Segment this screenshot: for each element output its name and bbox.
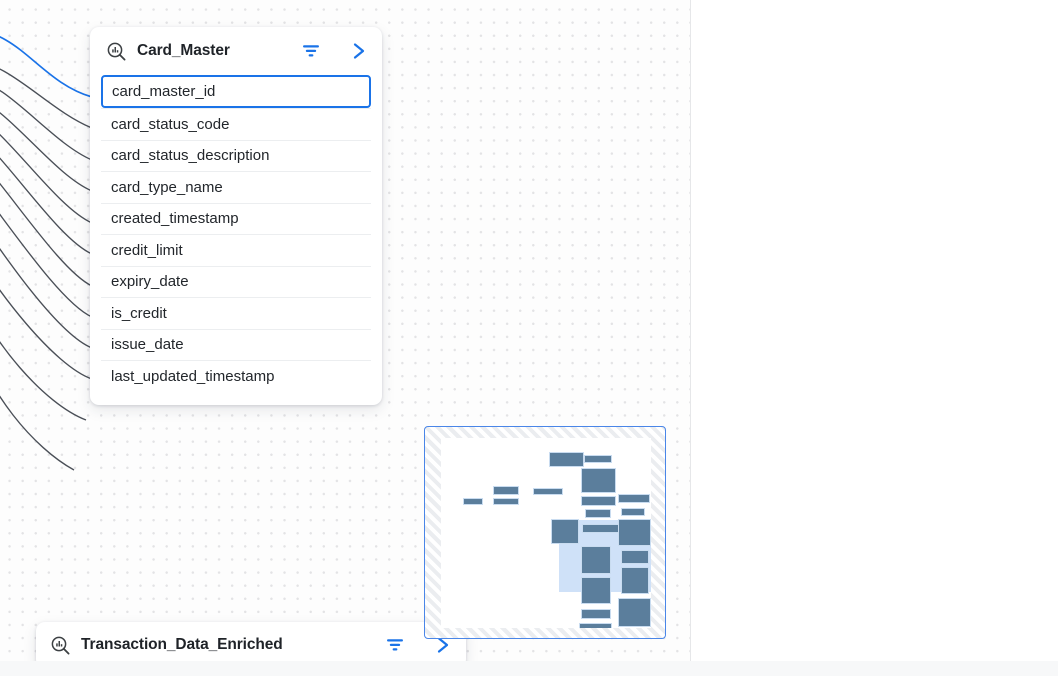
node-title: Card_Master [137, 42, 230, 60]
edge [0, 176, 92, 317]
edge [0, 330, 74, 470]
filter-icon[interactable] [384, 635, 406, 655]
edge [0, 96, 92, 191]
minimap-node [581, 577, 611, 604]
minimap-node [581, 496, 616, 506]
minimap-node [493, 486, 519, 495]
edge [0, 150, 92, 286]
data-profile-search-icon[interactable] [50, 635, 71, 656]
minimap-content [441, 438, 651, 628]
minimap[interactable] [424, 426, 666, 639]
footer-strip [0, 661, 1058, 676]
lineage-explorer-app: Card_Master card_master_id c [0, 0, 1058, 676]
field-row[interactable]: issue_date [101, 329, 371, 361]
minimap-node [618, 519, 651, 546]
field-row[interactable]: is_credit [101, 297, 371, 329]
graph-canvas[interactable]: Card_Master card_master_id c [0, 0, 690, 661]
table-node-card-master[interactable]: Card_Master card_master_id c [90, 27, 382, 405]
field-row[interactable]: created_timestamp [101, 203, 371, 235]
minimap-node [581, 468, 616, 493]
edge [0, 244, 92, 379]
data-profile-search-icon[interactable] [106, 41, 127, 62]
node-header: Card_Master [90, 27, 382, 75]
edge [0, 130, 92, 254]
field-row[interactable]: card_status_code [101, 108, 371, 140]
field-row[interactable]: expiry_date [101, 266, 371, 298]
minimap-node [585, 509, 611, 518]
minimap-node [581, 546, 611, 574]
node-header: Transaction_Data_Enriched [36, 622, 466, 661]
edge [0, 206, 92, 348]
minimap-node [621, 508, 645, 516]
edge [0, 112, 92, 223]
minimap-node [618, 494, 650, 503]
field-row[interactable]: credit_limit [101, 234, 371, 266]
edge [0, 78, 92, 160]
field-row[interactable]: last_updated_timestamp [101, 360, 371, 392]
field-row[interactable]: card_status_description [101, 140, 371, 172]
edge [0, 288, 86, 420]
edge [0, 60, 92, 128]
minimap-node [533, 488, 563, 495]
table-node-transaction-data-enriched[interactable]: Transaction_Data_Enriched [36, 622, 466, 661]
minimap-node [621, 550, 649, 564]
edge-highlighted [0, 30, 92, 97]
minimap-node [621, 567, 649, 594]
filter-icon[interactable] [300, 41, 322, 61]
minimap-node [551, 519, 579, 544]
minimap-node [581, 609, 611, 619]
minimap-node [463, 498, 483, 505]
minimap-node [579, 623, 612, 628]
minimap-node [549, 452, 584, 467]
field-row[interactable]: card_master_id [101, 75, 371, 108]
right-panel: Visualize Lineage [691, 0, 1058, 661]
minimap-node [618, 598, 651, 627]
chevron-right-icon[interactable] [350, 41, 368, 61]
minimap-node [582, 524, 619, 533]
field-list: card_master_id card_status_code card_sta… [90, 75, 382, 405]
node-title: Transaction_Data_Enriched [81, 636, 283, 654]
minimap-node [493, 498, 519, 505]
minimap-node [584, 455, 612, 463]
field-row[interactable]: card_type_name [101, 171, 371, 203]
